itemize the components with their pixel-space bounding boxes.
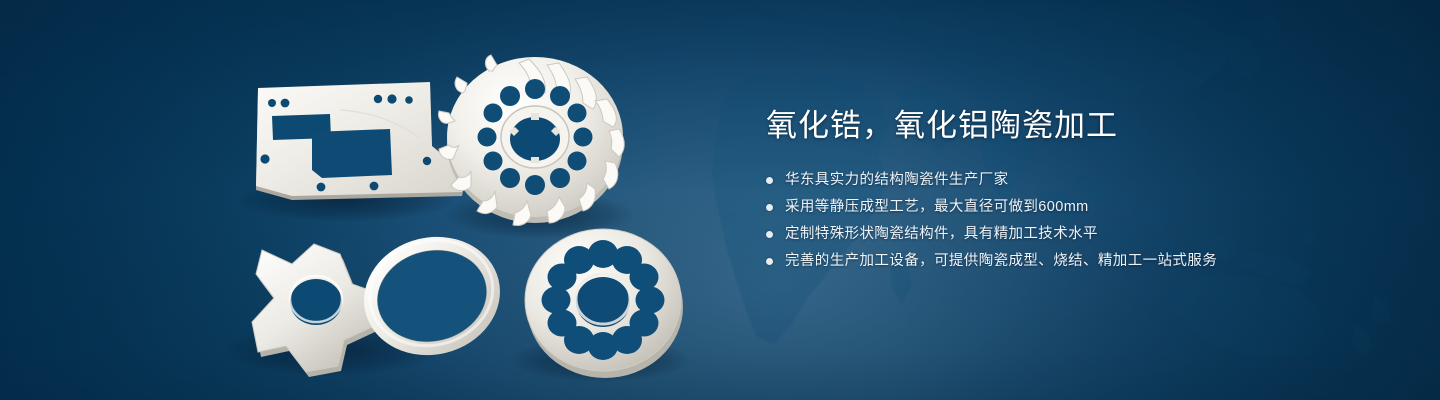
- list-item: 完善的生产加工设备，可提供陶瓷成型、烧结、精加工一站式服务: [766, 251, 1326, 272]
- ceramic-hole-disc-shape: [525, 229, 683, 378]
- promo-banner: 氧化锆，氧化铝陶瓷加工 华东具实力的结构陶瓷件生产厂家 采用等静压成型工艺，最大…: [0, 0, 1440, 400]
- bullet-dot-icon: [766, 177, 773, 184]
- page-title: 氧化锆，氧化铝陶瓷加工: [766, 104, 1326, 148]
- list-item-label: 定制特殊形状陶瓷结构件，具有精加工技术水平: [785, 224, 1098, 245]
- list-item: 华东具实力的结构陶瓷件生产厂家: [766, 170, 1326, 191]
- list-item-label: 采用等静压成型工艺，最大直径可做到600mm: [785, 197, 1089, 218]
- ceramic-plate-shape: [256, 82, 466, 200]
- bullet-dot-icon: [766, 204, 773, 211]
- feature-list: 华东具实力的结构陶瓷件生产厂家 采用等静压成型工艺，最大直径可做到600mm 定…: [766, 170, 1326, 272]
- ceramic-parts-photo: [0, 0, 740, 400]
- list-item-label: 华东具实力的结构陶瓷件生产厂家: [785, 170, 1009, 191]
- bullet-dot-icon: [766, 258, 773, 265]
- banner-copy: 氧化锆，氧化铝陶瓷加工 华东具实力的结构陶瓷件生产厂家 采用等静压成型工艺，最大…: [766, 104, 1326, 278]
- list-item-label: 完善的生产加工设备，可提供陶瓷成型、烧结、精加工一站式服务: [785, 251, 1217, 272]
- list-item: 定制特殊形状陶瓷结构件，具有精加工技术水平: [766, 224, 1326, 245]
- bullet-dot-icon: [766, 231, 773, 238]
- list-item: 采用等静压成型工艺，最大直径可做到600mm: [766, 197, 1326, 218]
